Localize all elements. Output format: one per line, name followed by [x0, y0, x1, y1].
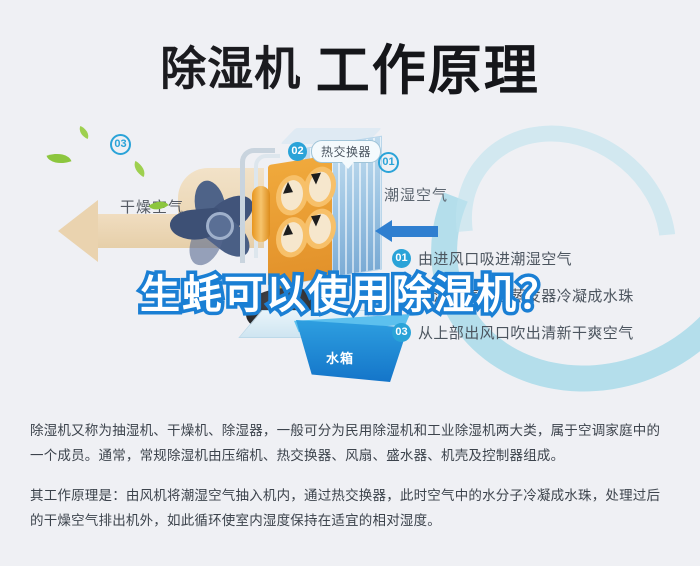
leaf-icon [77, 126, 92, 139]
coil-ring [276, 173, 308, 218]
water-tank-label: 水箱 [326, 348, 354, 367]
callout-01: 01 [378, 152, 399, 173]
coil-ring [304, 206, 336, 251]
receiver-cylinder-icon [252, 186, 270, 242]
airflow-arrow-up-icon [283, 223, 293, 236]
page-title-part1: 除湿机 [160, 43, 301, 95]
airflow-arrow-down-icon [311, 215, 321, 228]
intake-airflow-arrow-icon [392, 226, 438, 237]
step-text-03: 从上部出风口吹出清新干爽空气 [418, 322, 634, 343]
step-item: 03 从上部出风口吹出清新干爽空气 [392, 322, 692, 343]
body-paragraph-2: 其工作原理是：由风机将潮湿空气抽入机内，通过热交换器，此时空气中的水分子冷凝成水… [30, 483, 672, 533]
humid-air-label: 潮湿空气 [384, 184, 448, 205]
page-title: 除湿机 工作原理 [0, 26, 700, 105]
badge-02: 02 [288, 142, 307, 161]
heat-exchanger-label: 热交换器 [311, 140, 381, 163]
badge-03: 03 [110, 134, 131, 155]
step-badge-03: 03 [392, 323, 411, 342]
page-title-part2: 工作原理 [316, 41, 540, 101]
callout-03: 03 [110, 134, 131, 155]
airflow-arrow-up-icon [283, 181, 293, 194]
fan-hub [206, 212, 234, 240]
airflow-arrow-down-icon [311, 173, 321, 186]
callout-heat-exchanger: 02热交换器 [288, 140, 381, 163]
dry-air-arrow-head [58, 200, 98, 262]
body-paragraph-1: 除湿机又称为抽湿机、干燥机、除湿器，一般可分为民用除湿机和工业除湿机两大类，属于… [30, 418, 672, 468]
coil-ring [276, 215, 308, 260]
coil-ring [304, 164, 336, 209]
badge-01: 01 [378, 152, 399, 173]
overlay-headline: 生蚝可以使用除湿机？ [0, 262, 700, 320]
dehumidifier-diagram: 干燥空气 [0, 108, 700, 400]
